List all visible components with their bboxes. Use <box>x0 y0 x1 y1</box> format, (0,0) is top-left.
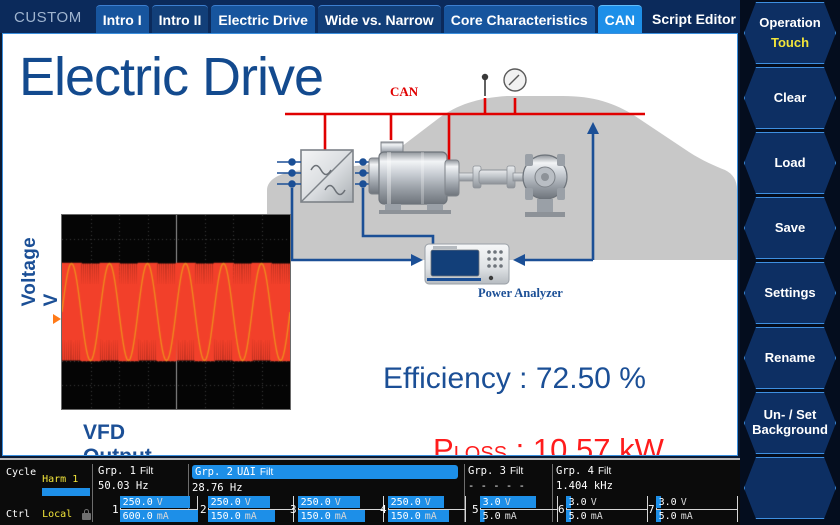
group-filter-flag: Filt <box>598 466 611 477</box>
voltage-value: 250.0 <box>211 497 241 508</box>
electric-motor <box>369 142 459 214</box>
efficiency-readout: Efficiency : 72.50 % <box>383 362 646 396</box>
channel-2[interactable]: 2250.0V150.0mA <box>200 496 294 522</box>
group-frequency: - - - - - <box>468 480 550 492</box>
channel-5[interactable]: 53.0V5.0mA <box>472 496 558 522</box>
voltage-unit: V <box>335 497 341 508</box>
voltage-unit: V <box>245 497 251 508</box>
current-value: 150.0 <box>391 511 421 522</box>
channel-1[interactable]: 1250.0V600.0mA <box>112 496 198 522</box>
voltage-value: 3.0 <box>483 497 501 508</box>
channel-number: 5 <box>472 503 479 516</box>
tab-intro-i[interactable]: Intro I <box>96 5 149 33</box>
softkey-label: Load <box>774 156 805 171</box>
voltage-range-bar[interactable]: 250.0V <box>120 496 198 508</box>
status-divider <box>92 464 93 522</box>
channel-number: 2 <box>200 503 207 516</box>
power-loss-separator: : <box>507 432 533 456</box>
current-unit: mA <box>245 511 257 522</box>
group-name: Grp. 1 <box>98 465 136 477</box>
current-range-bar[interactable]: 5.0mA <box>566 510 648 522</box>
tab-script-editor[interactable]: Script Editor <box>645 5 743 33</box>
instrument-screen: CUSTOM Intro IIntro IIElectric DriveWide… <box>0 0 840 525</box>
channel-number: 1 <box>112 503 119 516</box>
softkey-operation[interactable]: OperationTouch <box>744 2 836 64</box>
softkey-rename[interactable]: Rename <box>744 327 836 389</box>
softkey-un-set-background[interactable]: Un- / Set Background <box>744 392 836 454</box>
softkey-settings[interactable]: Settings <box>744 262 836 324</box>
voltage-unit: V <box>505 497 511 508</box>
current-unit: mA <box>591 511 603 522</box>
softkey-label: Save <box>775 221 805 236</box>
channel-number: 3 <box>290 503 297 516</box>
scope-display[interactable] <box>61 214 291 410</box>
tab-can[interactable]: CAN <box>598 5 642 33</box>
group-header[interactable]: Grp. 3Filt <box>468 465 550 477</box>
current-range-bar[interactable]: 5.0mA <box>656 510 738 522</box>
group-name: Grp. 2 <box>195 466 233 478</box>
voltage-range-bar[interactable]: 3.0V <box>656 496 738 508</box>
channel-number: 7 <box>648 503 655 516</box>
current-range-bar[interactable]: 150.0mA <box>208 510 294 522</box>
softkey-label: Settings <box>764 286 815 301</box>
current-value: 600.0 <box>123 511 153 522</box>
power-loss-subscript: LOSS <box>454 443 507 456</box>
softkey-label: Rename <box>765 351 816 366</box>
voltage-unit: V <box>681 497 687 508</box>
power-loss-label: P <box>433 432 454 456</box>
channel-number: 4 <box>380 503 387 516</box>
softkey-save[interactable]: Save <box>744 197 836 259</box>
current-range-bar[interactable]: 5.0mA <box>480 510 558 522</box>
group-header[interactable]: Grp. 4Filt <box>556 465 736 477</box>
softkey-empty-7[interactable] <box>744 457 836 519</box>
current-range-bar[interactable]: 150.0mA <box>298 510 384 522</box>
current-unit: mA <box>335 511 347 522</box>
softkey-label: Clear <box>774 91 807 106</box>
voltage-range-bar[interactable]: 250.0V <box>388 496 466 508</box>
status-cycle-block: Cycle Harm 1 Ctrl Local <box>6 463 88 525</box>
can-bus-label: CAN <box>390 84 418 100</box>
voltage-range-bar[interactable]: 3.0V <box>480 496 558 508</box>
voltage-unit: V <box>157 497 163 508</box>
group-filter-flag: Filt <box>510 466 523 477</box>
ctrl-label: Ctrl <box>6 509 30 520</box>
current-range-bar[interactable]: 150.0mA <box>388 510 466 522</box>
powertrain-diagram: CAN Power Analyzer <box>263 54 738 334</box>
group-filter-flag: Filt <box>140 466 153 477</box>
group-frequency: 1.404 kHz <box>556 480 736 492</box>
current-value: 5.0 <box>483 511 501 522</box>
current-unit: mA <box>425 511 437 522</box>
softkey-load[interactable]: Load <box>744 132 836 194</box>
softkey-label: Un- / Set Background <box>752 408 828 438</box>
voltage-value: 3.0 <box>659 497 677 508</box>
channel-3[interactable]: 3250.0V150.0mA <box>290 496 384 522</box>
power-analyzer-label: Power Analyzer <box>478 286 563 301</box>
current-unit: mA <box>505 511 517 522</box>
channel-7[interactable]: 73.0V5.0mA <box>648 496 738 522</box>
voltage-value: 250.0 <box>391 497 421 508</box>
softkey-sublabel: Touch <box>771 36 809 51</box>
softkey-label: Operation <box>759 16 820 31</box>
cycle-indicator-bar <box>42 488 90 496</box>
current-range-bar[interactable]: 600.0mA <box>120 510 198 522</box>
efficiency-value: 72.50 % <box>536 362 646 395</box>
scope-caption: VFD Output <box>83 421 152 456</box>
tab-bar: CUSTOM Intro IIntro IIElectric DriveWide… <box>0 0 740 33</box>
softkey-clear[interactable]: Clear <box>744 67 836 129</box>
voltage-unit: V <box>591 497 597 508</box>
sensor-icons <box>482 69 526 96</box>
channel-number: 6 <box>558 503 565 516</box>
tab-electric-drive[interactable]: Electric Drive <box>211 5 315 33</box>
voltage-unit: V <box>425 497 431 508</box>
group-header[interactable]: Grp. 1Filt <box>98 465 186 477</box>
efficiency-label: Efficiency : <box>383 362 528 395</box>
current-value: 150.0 <box>211 511 241 522</box>
voltage-range-bar[interactable]: 250.0V <box>208 496 294 508</box>
voltage-value: 250.0 <box>123 497 153 508</box>
channel-6[interactable]: 63.0V5.0mA <box>558 496 648 522</box>
current-unit: mA <box>157 511 169 522</box>
power-analyzer <box>425 244 509 284</box>
power-loss-value: 10.57 kW <box>533 432 664 456</box>
voltage-range-bar[interactable]: 3.0V <box>566 496 648 508</box>
scope-y-axis-label: Voltage V <box>19 237 63 306</box>
voltage-value: 3.0 <box>569 497 587 508</box>
cycle-label: Cycle <box>6 467 36 478</box>
ctrl-value[interactable]: Local <box>42 509 72 520</box>
tab-intro-ii[interactable]: Intro II <box>152 5 209 33</box>
group-frequency: 50.03 Hz <box>98 480 186 492</box>
main-content-panel: Electric Drive <box>2 33 738 456</box>
softkey-sidebar: OperationTouchClearLoadSaveSettingsRenam… <box>740 0 840 525</box>
waveform-canvas[interactable] <box>62 215 290 409</box>
custom-label: CUSTOM <box>0 9 96 33</box>
channel-4[interactable]: 4250.0V150.0mA <box>380 496 466 522</box>
current-value: 5.0 <box>569 511 587 522</box>
inverter-block <box>301 150 353 202</box>
lock-icon[interactable] <box>82 509 88 520</box>
current-unit: mA <box>681 511 693 522</box>
tab-wide-vs-narrow[interactable]: Wide vs. Narrow <box>318 5 441 33</box>
voltage-range-bar[interactable]: 250.0V <box>298 496 384 508</box>
group-name: Grp. 4 <box>556 465 594 477</box>
group-filter-flag: Filt <box>260 467 273 478</box>
group-header[interactable]: Grp. 2UΔIFilt <box>192 465 458 479</box>
tab-core-characteristics[interactable]: Core Characteristics <box>444 5 595 33</box>
group-frequency: 28.76 Hz <box>192 482 462 494</box>
cycle-value[interactable]: Harm 1 <box>42 474 78 485</box>
power-loss-readout: PLOSS : 10.57 kW <box>433 432 664 456</box>
trigger-level-marker <box>53 314 61 324</box>
current-value: 150.0 <box>301 511 331 522</box>
group-name: Grp. 3 <box>468 465 506 477</box>
group-mode: UΔI <box>237 466 256 478</box>
current-value: 5.0 <box>659 511 677 522</box>
status-bar: Cycle Harm 1 Ctrl Local Grp. 1Filt50.03 … <box>0 458 740 525</box>
voltage-value: 250.0 <box>301 497 331 508</box>
